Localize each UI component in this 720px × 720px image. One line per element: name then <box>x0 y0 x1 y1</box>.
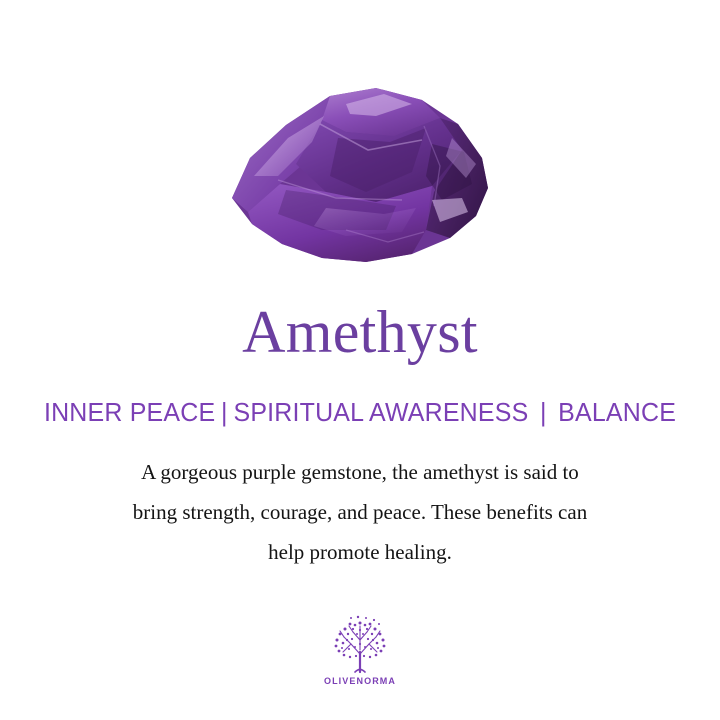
description-text: A gorgeous purple gemstone, the amethyst… <box>0 452 720 572</box>
raw-amethyst-crystal-icon <box>226 80 494 270</box>
gemstone-image-container <box>0 70 720 280</box>
brand-logo: OLIVENORMA <box>0 612 720 686</box>
description-line-3: help promote healing. <box>0 532 720 572</box>
brand-wordmark: OLIVENORMA <box>324 676 396 686</box>
keyword-inner-peace: INNER PEACE <box>44 397 215 427</box>
tree-of-life-icon <box>331 612 389 674</box>
keyword-spiritual-awareness: SPIRITUAL AWARENESS <box>234 397 529 427</box>
keyword-separator-2: | <box>528 396 558 428</box>
description-line-1: A gorgeous purple gemstone, the amethyst… <box>0 452 720 492</box>
page-title: Amethyst <box>0 300 720 364</box>
keyword-balance: BALANCE <box>558 397 676 427</box>
keyword-row: INNER PEACE|SPIRITUAL AWARENESS|BALANCE <box>14 396 705 428</box>
description-line-2: bring strength, courage, and peace. Thes… <box>0 492 720 532</box>
keyword-separator-1: | <box>215 396 233 428</box>
amethyst-info-card: Amethyst INNER PEACE|SPIRITUAL AWARENESS… <box>0 0 720 720</box>
